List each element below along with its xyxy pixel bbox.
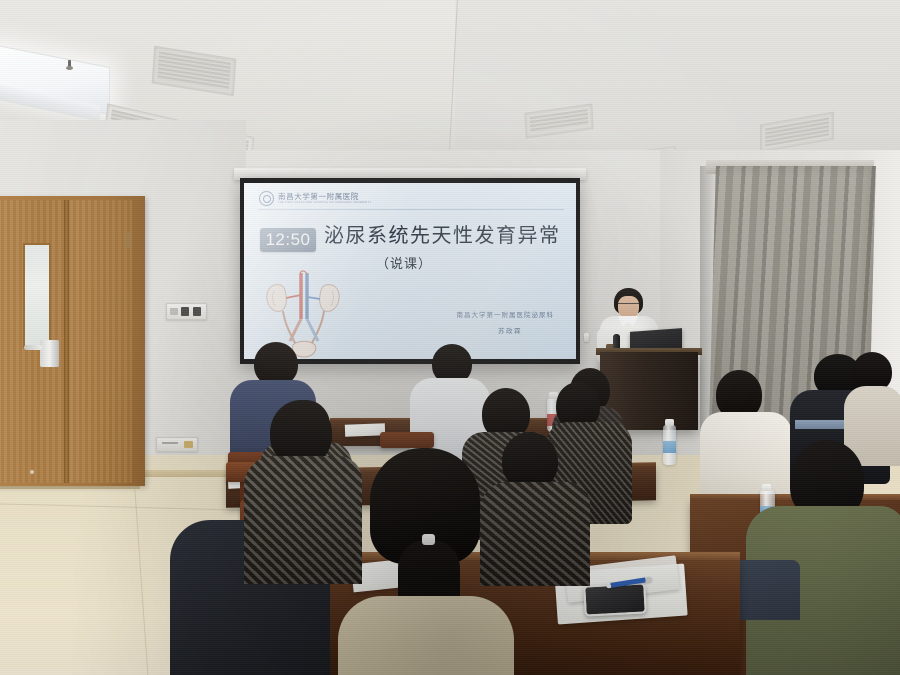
audience-member bbox=[480, 432, 590, 582]
conference-room-photo: 南昌大学第一附属医院 THE FIRST AFFILIATED HOSPITAL… bbox=[0, 0, 900, 675]
logo-text-en: THE FIRST AFFILIATED HOSPITAL OF NANCHAN… bbox=[278, 202, 371, 205]
hair-tie bbox=[422, 534, 435, 545]
wall-data-plate bbox=[156, 437, 198, 452]
slide-presenter-name: 苏政霖 bbox=[498, 325, 522, 335]
slide-divider bbox=[258, 209, 564, 210]
audience-member bbox=[746, 440, 900, 675]
slide-timer-badge: 12:50 bbox=[260, 228, 316, 252]
door-glass-panel bbox=[23, 243, 51, 348]
door-hinge bbox=[126, 232, 130, 248]
slide-hospital-logo: 南昌大学第一附属医院 THE FIRST AFFILIATED HOSPITAL… bbox=[259, 191, 371, 206]
light-switch-plate[interactable] bbox=[166, 303, 207, 320]
projection-screen-frame: 南昌大学第一附属医院 THE FIRST AFFILIATED HOSPITAL… bbox=[240, 178, 580, 364]
projection-screen: 南昌大学第一附属医院 THE FIRST AFFILIATED HOSPITAL… bbox=[244, 183, 576, 359]
door-handle[interactable] bbox=[40, 340, 59, 367]
slide-title: 泌尿系统先天性发育异常 bbox=[324, 225, 574, 248]
person-torso bbox=[480, 482, 590, 586]
screen-remote-sensor-icon bbox=[584, 333, 589, 342]
logo-text-cn: 南昌大学第一附属医院 bbox=[278, 193, 371, 201]
slide-subtitle: （说课） bbox=[376, 253, 432, 272]
eyeglasses-icon bbox=[618, 303, 639, 309]
water-bottle bbox=[663, 425, 676, 465]
hospital-emblem-icon bbox=[259, 191, 274, 206]
smartphone[interactable] bbox=[583, 582, 647, 616]
person-torso bbox=[338, 596, 514, 675]
door-hole bbox=[30, 470, 34, 474]
slide-organization-line: 南昌大学第一附属医院泌尿科 bbox=[457, 309, 555, 319]
door-split-seam bbox=[64, 200, 69, 483]
chair-back[interactable] bbox=[380, 432, 434, 448]
sprinkler-head-icon bbox=[66, 60, 73, 71]
